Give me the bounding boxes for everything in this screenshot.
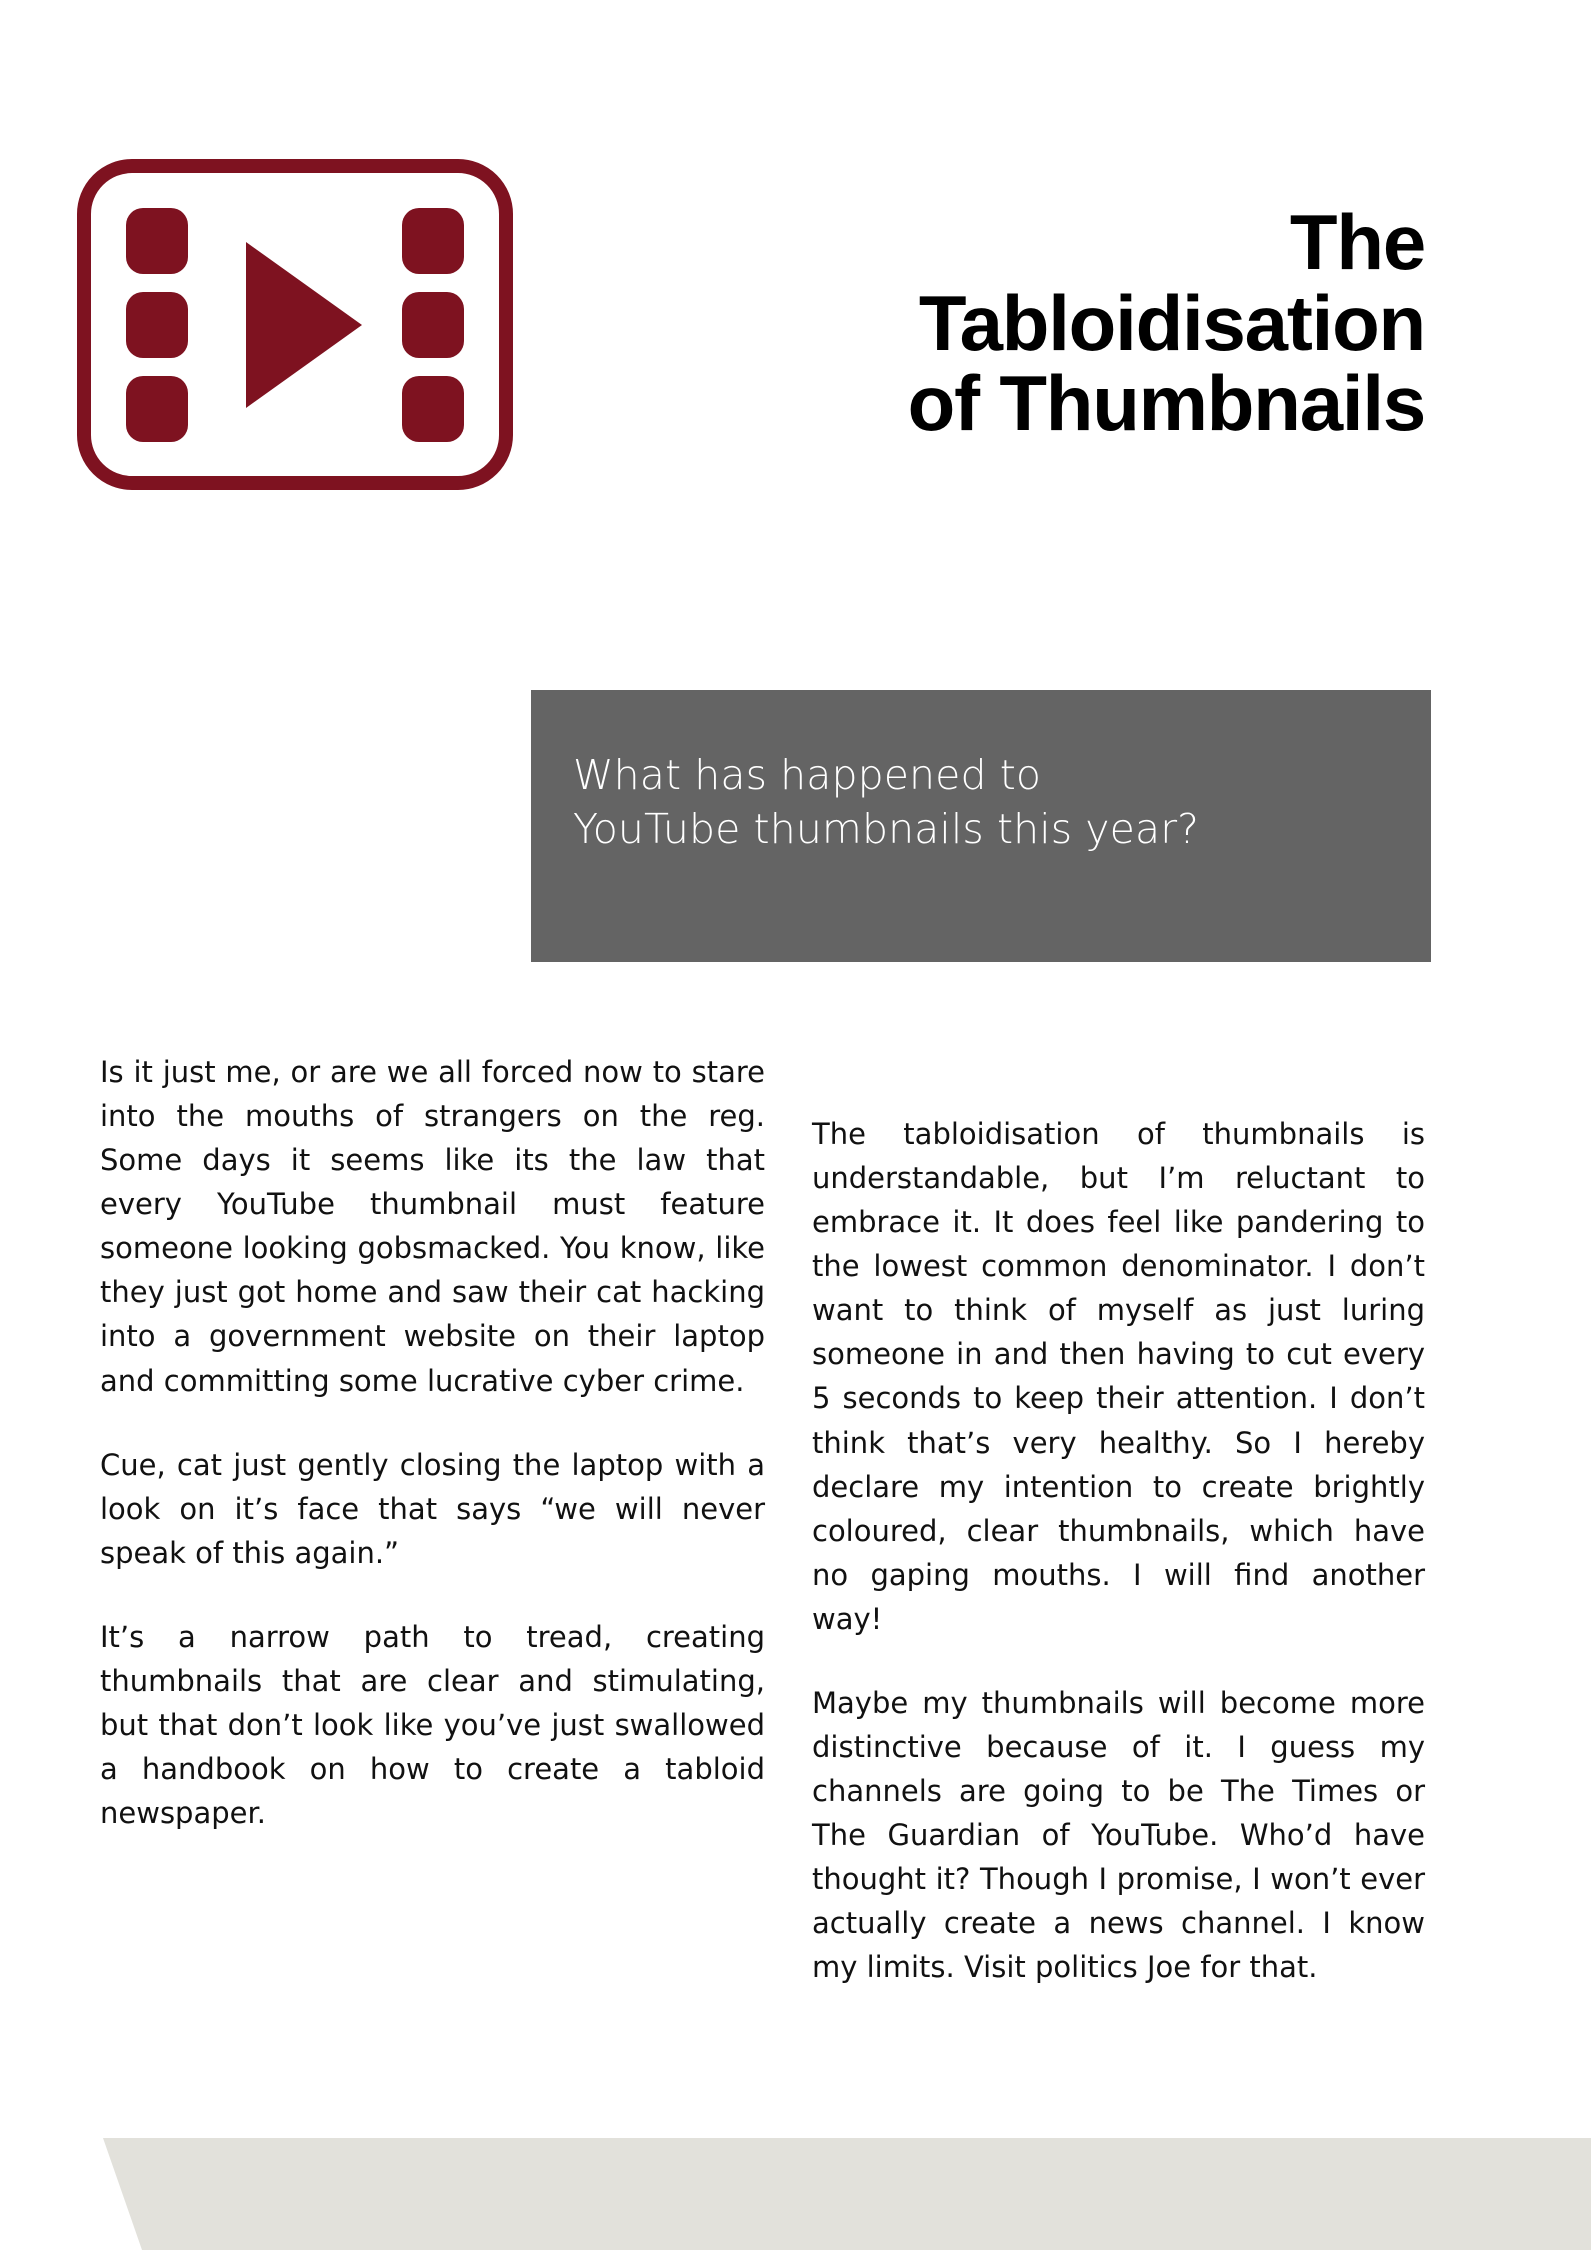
- question-callout: What has happened to YouTube thumbnails …: [531, 690, 1431, 962]
- filmstrip-play-icon: [70, 152, 520, 497]
- question-line-1: What has happened to: [573, 748, 1391, 802]
- article-column-right: The tabloidisation of thumbnails is unde…: [812, 1112, 1425, 1989]
- poster-page: The Tabloidisation of Thumbnails What ha…: [0, 0, 1591, 2250]
- paragraph: Is it just me, or are we all forced now …: [100, 1050, 765, 1403]
- title-line-2: Tabloidisation: [525, 283, 1425, 363]
- page-title: The Tabloidisation of Thumbnails: [525, 202, 1425, 443]
- paragraph: It’s a narrow path to tread, creating th…: [100, 1615, 765, 1835]
- article-column-left: Is it just me, or are we all forced now …: [100, 1050, 765, 1835]
- masthead: The Tabloidisation of Thumbnails: [0, 0, 1591, 500]
- title-line-1: The: [525, 202, 1425, 282]
- question-callout-text: What has happened to YouTube thumbnails …: [573, 748, 1391, 856]
- question-line-2: YouTube thumbnails this year?: [573, 802, 1391, 856]
- paragraph: Cue, cat just gently closing the laptop …: [100, 1443, 765, 1575]
- paragraph: The tabloidisation of thumbnails is unde…: [812, 1112, 1425, 1641]
- bottom-decorative-band: [0, 2138, 1591, 2250]
- title-line-3: of Thumbnails: [525, 363, 1425, 443]
- paragraph: Maybe my thumbnails will become more dis…: [812, 1681, 1425, 1990]
